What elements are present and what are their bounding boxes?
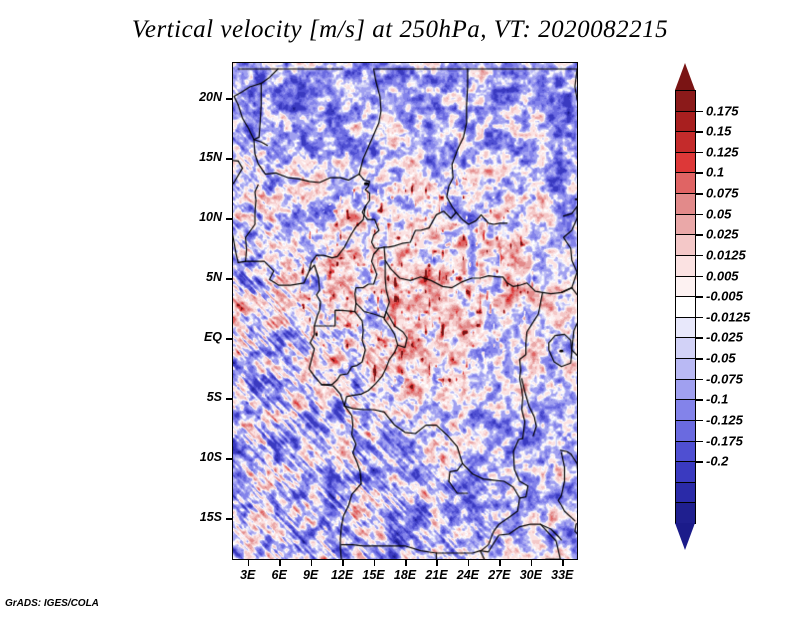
y-axis-tick-label: 10N [199, 210, 222, 224]
colorbar-tick-label: 0.15 [706, 124, 731, 139]
colorbar-tick-label: 0.025 [706, 227, 739, 242]
colorbar-segment [675, 111, 696, 133]
y-axis-tick-label: 10S [200, 450, 222, 464]
country-borders-overlay [233, 63, 577, 559]
colorbar-tick-label: -0.005 [706, 289, 743, 304]
colorbar-tick-label: 0.05 [706, 206, 731, 221]
colorbar-tick-label: -0.1 [706, 392, 728, 407]
colorbar-tick-label: -0.05 [706, 351, 736, 366]
colorbar-segment [675, 152, 696, 174]
y-axis-tick-mark [226, 398, 232, 400]
x-axis-tick-mark [279, 560, 281, 566]
colorbar-segment [675, 172, 696, 194]
x-axis-tick-label: 33E [542, 568, 582, 582]
colorbar-segment [675, 317, 696, 339]
colorbar-segment [675, 358, 696, 380]
y-axis-tick-label: 5S [207, 390, 222, 404]
colorbar-segment [675, 337, 696, 359]
colorbar-tick-label: -0.0125 [706, 309, 750, 324]
colorbar-tick-label: 0.175 [706, 103, 739, 118]
colorbar-tick-mark [696, 337, 703, 339]
colorbar-tick-label: -0.175 [706, 433, 743, 448]
y-axis-tick-mark [226, 158, 232, 160]
colorbar-segment [675, 90, 696, 112]
colorbar-segment [675, 296, 696, 318]
colorbar-tick-label: 0.0125 [706, 247, 746, 262]
colorbar-segment [675, 482, 696, 504]
colorbar-tick-mark [696, 317, 703, 319]
colorbar-tick-mark [696, 461, 703, 463]
y-axis-tick-mark [226, 338, 232, 340]
y-axis-tick-mark [226, 278, 232, 280]
y-axis-tick-label: EQ [204, 330, 222, 344]
colorbar-segment [675, 441, 696, 463]
page-title: Vertical velocity [m/s] at 250hPa, VT: 2… [0, 16, 800, 44]
x-axis-tick-mark [468, 560, 470, 566]
footer-credit: GrADS: IGES/COLA [5, 598, 99, 609]
colorbar-under-arrow [675, 523, 695, 550]
colorbar-tick-mark [696, 420, 703, 422]
colorbar-tick-label: -0.125 [706, 412, 743, 427]
colorbar-segment [675, 214, 696, 236]
colorbar-segment [675, 379, 696, 401]
colorbar-tick-label: -0.025 [706, 330, 743, 345]
x-axis-tick-mark [405, 560, 407, 566]
colorbar-tick-mark [696, 399, 703, 401]
y-axis-tick-mark [226, 218, 232, 220]
y-axis-tick-label: 5N [206, 270, 222, 284]
colorbar: 0.1750.150.1250.10.0750.050.0250.01250.0… [675, 63, 696, 550]
colorbar-tick-label: 0.125 [706, 144, 739, 159]
x-axis-tick-mark [436, 560, 438, 566]
colorbar-tick-mark [696, 214, 703, 216]
colorbar-tick-mark [696, 111, 703, 113]
y-axis-tick-mark [226, 518, 232, 520]
colorbar-segment [675, 276, 696, 298]
colorbar-tick-mark [696, 193, 703, 195]
colorbar-tick-label: -0.075 [706, 371, 743, 386]
x-axis-tick-mark [342, 560, 344, 566]
colorbar-tick-mark [696, 296, 703, 298]
map-plot-area [232, 62, 578, 560]
colorbar-tick-mark [696, 441, 703, 443]
colorbar-tick-mark [696, 152, 703, 154]
x-axis-tick-mark [562, 560, 564, 566]
colorbar-segment [675, 399, 696, 421]
x-axis-tick-mark [374, 560, 376, 566]
colorbar-segment [675, 131, 696, 153]
colorbar-tick-mark [696, 234, 703, 236]
colorbar-tick-mark [696, 379, 703, 381]
colorbar-tick-mark [696, 358, 703, 360]
colorbar-tick-mark [696, 276, 703, 278]
x-axis-tick-mark [499, 560, 501, 566]
colorbar-tick-label: 0.1 [706, 165, 724, 180]
colorbar-tick-label: -0.2 [706, 454, 728, 469]
y-axis-tick-label: 15N [199, 150, 222, 164]
y-axis-tick-label: 20N [199, 90, 222, 104]
colorbar-tick-mark [696, 255, 703, 257]
colorbar-segment [675, 234, 696, 256]
colorbar-segment [675, 461, 696, 483]
y-axis-tick-mark [226, 98, 232, 100]
x-axis-tick-mark [248, 560, 250, 566]
colorbar-over-arrow [675, 63, 695, 90]
colorbar-segment [675, 502, 696, 524]
y-axis-tick-mark [226, 458, 232, 460]
colorbar-segment [675, 193, 696, 215]
colorbar-segment [675, 420, 696, 442]
colorbar-tick-label: 0.005 [706, 268, 739, 283]
y-axis-tick-label: 15S [200, 510, 222, 524]
colorbar-tick-mark [696, 172, 703, 174]
x-axis-tick-mark [311, 560, 313, 566]
colorbar-tick-mark [696, 131, 703, 133]
colorbar-segment [675, 255, 696, 277]
x-axis-tick-mark [531, 560, 533, 566]
colorbar-tick-label: 0.075 [706, 186, 739, 201]
